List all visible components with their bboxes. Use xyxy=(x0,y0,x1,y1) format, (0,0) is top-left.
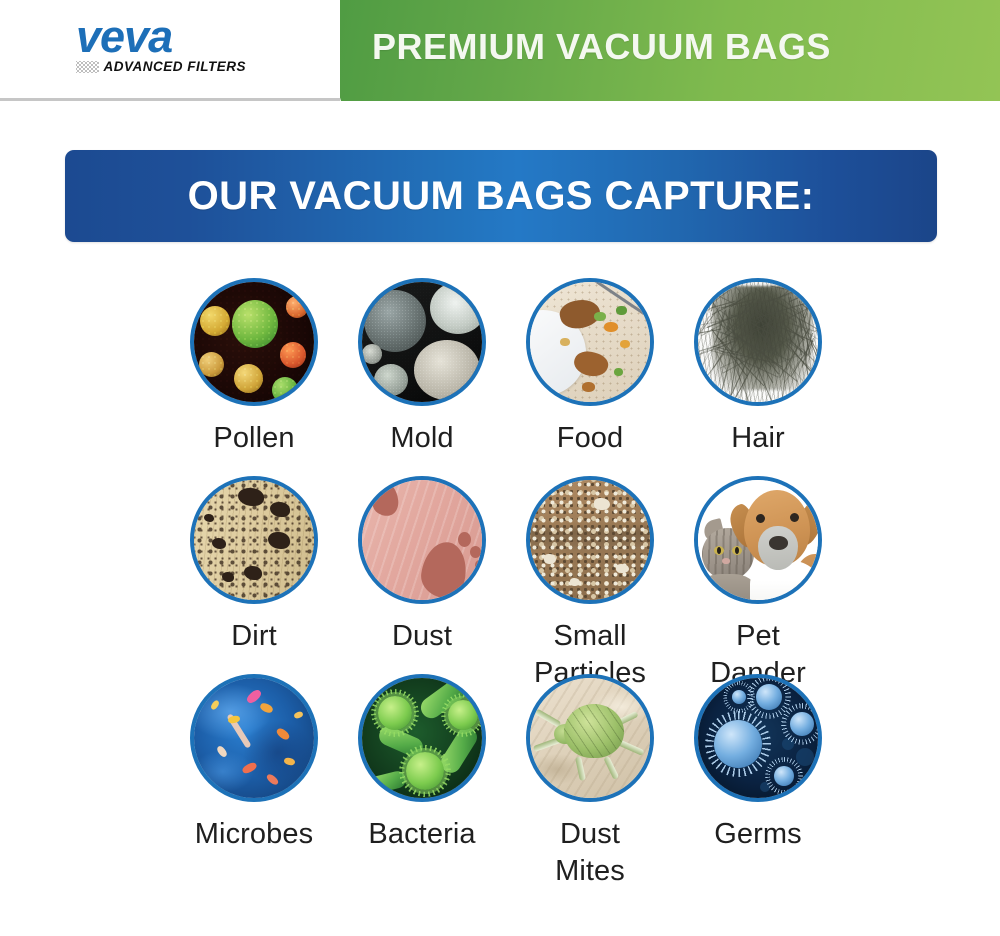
capture-row: Microbes Bacteria xyxy=(170,674,842,872)
capture-item-label: Dirt xyxy=(231,618,277,655)
halftone-dots-icon xyxy=(76,61,99,73)
capture-item-label: Food xyxy=(557,420,624,457)
capture-item-pet-dander[interactable]: Pet Dander xyxy=(674,476,842,674)
capture-item-pollen[interactable]: Pollen xyxy=(170,278,338,476)
capture-item-dirt[interactable]: Dirt xyxy=(170,476,338,674)
germs-icon xyxy=(694,674,822,802)
dust-mites-icon xyxy=(526,674,654,802)
mold-icon xyxy=(358,278,486,406)
capture-item-food[interactable]: Food xyxy=(506,278,674,476)
capture-item-label: Germs xyxy=(714,816,802,853)
hair-icon xyxy=(694,278,822,406)
capture-items-grid: Pollen Mold Fo xyxy=(170,278,842,872)
capture-item-label: Dust Mites xyxy=(555,816,625,890)
page-header: veva ADVANCED FILTERS PREMIUM VACUUM BAG… xyxy=(0,0,1000,104)
capture-item-microbes[interactable]: Microbes xyxy=(170,674,338,872)
capture-item-dust[interactable]: Dust xyxy=(338,476,506,674)
capture-item-label: Hair xyxy=(731,420,785,457)
capture-item-mold[interactable]: Mold xyxy=(338,278,506,476)
brand-logo[interactable]: veva ADVANCED FILTERS xyxy=(76,16,246,73)
capture-item-label: Dust xyxy=(392,618,452,655)
pet-dander-icon xyxy=(694,476,822,604)
capture-item-dust-mites[interactable]: Dust Mites xyxy=(506,674,674,872)
capture-item-label: Pollen xyxy=(213,420,294,457)
dirt-icon xyxy=(190,476,318,604)
pollen-icon xyxy=(190,278,318,406)
microbes-icon xyxy=(190,674,318,802)
capture-item-hair[interactable]: Hair xyxy=(674,278,842,476)
brand-logo-tagline: ADVANCED FILTERS xyxy=(104,60,247,74)
section-title-text: OUR VACUUM BAGS CAPTURE: xyxy=(188,174,815,219)
capture-row: Pollen Mold Fo xyxy=(170,278,842,476)
capture-item-label: Bacteria xyxy=(368,816,475,853)
small-particles-icon xyxy=(526,476,654,604)
capture-item-label: Mold xyxy=(390,420,453,457)
capture-item-label: Microbes xyxy=(195,816,313,853)
capture-item-bacteria[interactable]: Bacteria xyxy=(338,674,506,872)
capture-item-germs[interactable]: Germs xyxy=(674,674,842,872)
bacteria-icon xyxy=(358,674,486,802)
food-icon xyxy=(526,278,654,406)
header-banner-title: PREMIUM VACUUM BAGS xyxy=(372,26,831,68)
capture-item-small-particles[interactable]: Small Particles xyxy=(506,476,674,674)
brand-logo-wordmark: veva xyxy=(76,16,246,59)
dust-icon xyxy=(358,476,486,604)
section-title-bar: OUR VACUUM BAGS CAPTURE: xyxy=(65,150,937,242)
capture-row: Dirt Dust Small Particles xyxy=(170,476,842,674)
